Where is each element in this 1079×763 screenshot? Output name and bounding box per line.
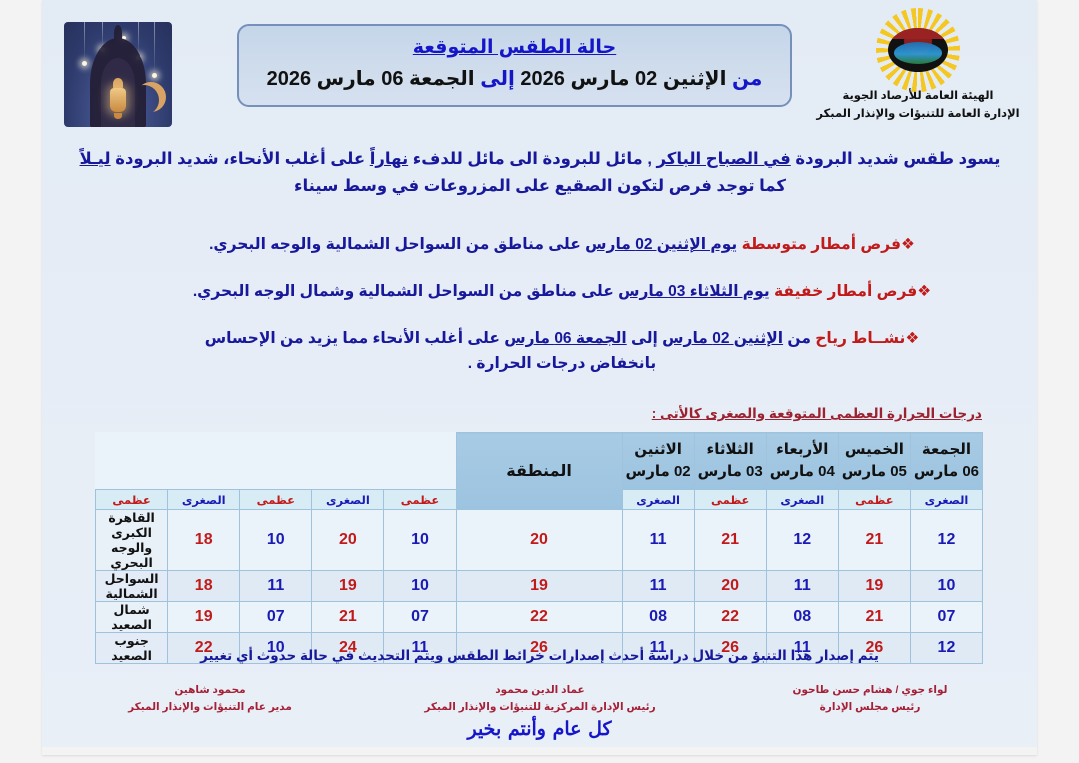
day-header-wednesday: الأربعاء 04 مارس bbox=[766, 433, 838, 490]
table-row: 07 21 08 22 08 22 07 21 07 19 شمال الصعي… bbox=[96, 602, 983, 633]
date-range-from-label: من bbox=[732, 68, 762, 90]
temp-min: 11 bbox=[622, 571, 694, 602]
bullet-2-lead: نشــاط رياح bbox=[815, 330, 905, 347]
subheader-min: الصغرى bbox=[910, 490, 982, 510]
temp-max: 22 bbox=[694, 602, 766, 633]
signature-name: لواء جوي / هشام حسن طاحون bbox=[720, 682, 1020, 699]
subheader-min: الصغرى bbox=[622, 490, 694, 510]
date-range-start: الإثنين 02 مارس 2026 bbox=[520, 68, 726, 90]
ramadan-lantern-image bbox=[64, 22, 172, 127]
temp-min: 12 bbox=[910, 510, 982, 571]
region-column-header: المنطقة bbox=[456, 433, 622, 510]
temp-min: 11 bbox=[766, 571, 838, 602]
temp-max: 21 bbox=[694, 510, 766, 571]
bullet-1-tail: على مناطق من السواحل الشمالية وشمال الوج… bbox=[193, 283, 614, 300]
temp-max: 22 bbox=[456, 602, 622, 633]
date-range-to-label: إلى bbox=[480, 68, 515, 90]
bullet-2-tail-2: بانخفاض درجات الحرارة . bbox=[102, 351, 1022, 376]
list-item: ❖نشــاط رياح من الإثنين 02 مارس إلى الجم… bbox=[102, 326, 1022, 376]
subheader-max: عظمى bbox=[240, 490, 312, 510]
signature-chairman: لواء جوي / هشام حسن طاحون رئيس مجلس الإد… bbox=[720, 682, 1020, 716]
day-header-monday: الاثنين 02 مارس bbox=[622, 433, 694, 490]
forecast-bullet-list: ❖فرص أمطار متوسطة يوم الإثنين 02 مارس عل… bbox=[102, 232, 1022, 398]
temp-max: 20 bbox=[694, 571, 766, 602]
temp-max: 19 bbox=[168, 602, 240, 633]
bullet-2-tail: على أغلب الأنحاء مما يزيد من الإحساس bbox=[205, 330, 500, 347]
forecast-date-range: من الإثنين 02 مارس 2026 إلى الجمعة 06 ما… bbox=[249, 65, 780, 94]
temp-max: 19 bbox=[456, 571, 622, 602]
diamond-bullet-icon: ❖ bbox=[901, 236, 915, 253]
subheader-max: عظمى bbox=[694, 490, 766, 510]
temp-min: 10 bbox=[384, 510, 456, 571]
summary-part-1: يسود طقس شديد البرودة bbox=[795, 150, 1000, 168]
subheader-max: عظمى bbox=[384, 490, 456, 510]
signature-block: لواء جوي / هشام حسن طاحون رئيس مجلس الإد… bbox=[60, 682, 1020, 716]
bullet-0-underline: يوم الإثنين 02 مارس bbox=[585, 236, 737, 253]
summary-underline-2: نهاراً bbox=[370, 150, 408, 168]
temp-min: 07 bbox=[384, 602, 456, 633]
signature-role: رئيس مجلس الإدارة bbox=[720, 699, 1020, 716]
temp-min: 12 bbox=[766, 510, 838, 571]
temp-max: 18 bbox=[168, 510, 240, 571]
list-item: ❖فرص أمطار خفيفة يوم الثلاثاء 03 مارس عل… bbox=[102, 279, 1022, 304]
signature-central-head: عماد الدين محمود رئيس الإدارة المركزية ل… bbox=[390, 682, 690, 716]
diamond-bullet-icon: ❖ bbox=[905, 330, 919, 347]
temp-min: 07 bbox=[910, 602, 982, 633]
page-title: حالة الطقس المتوقعة bbox=[249, 34, 780, 62]
temperature-table: الجمعة 06 مارس الخميس 05 مارس الأربعاء 0… bbox=[95, 432, 983, 664]
lantern-icon bbox=[107, 75, 129, 119]
temp-max: 20 bbox=[312, 510, 384, 571]
day-name: الجمعة bbox=[911, 439, 982, 462]
bullet-2-mid: من bbox=[787, 330, 811, 347]
signature-role: مدير عام التنبؤات والإنذار المبكر bbox=[60, 699, 360, 716]
table-day-header-row: الجمعة 06 مارس الخميس 05 مارس الأربعاء 0… bbox=[96, 433, 983, 490]
day-header-friday: الجمعة 06 مارس bbox=[910, 433, 982, 490]
date-range-end: الجمعة 06 مارس 2026 bbox=[267, 68, 475, 90]
temp-max: 21 bbox=[838, 510, 910, 571]
temperature-table-caption: درجات الحرارة العظمى المتوقعة والصغرى كا… bbox=[652, 406, 982, 422]
bullet-1-underline: يوم الثلاثاء 03 مارس bbox=[618, 283, 770, 300]
temp-min: 11 bbox=[622, 510, 694, 571]
day-date: 06 مارس bbox=[911, 461, 982, 484]
summary-part-3: على أغلب الأنحاء، شديد البرودة bbox=[115, 150, 365, 168]
org-department: الإدارة العامة للتنبؤات والإنذار المبكر bbox=[813, 106, 1023, 124]
day-header-tuesday: الثلاثاء 03 مارس bbox=[694, 433, 766, 490]
signature-role: رئيس الإدارة المركزية للتنبؤات والإنذار … bbox=[390, 699, 690, 716]
temp-min: 07 bbox=[240, 602, 312, 633]
day-date: 04 مارس bbox=[767, 461, 838, 484]
temp-max: 19 bbox=[312, 571, 384, 602]
summary-part-2: , مائل للبرودة الى مائل للدفء bbox=[413, 150, 652, 168]
temp-min: 08 bbox=[766, 602, 838, 633]
temp-min: 10 bbox=[240, 510, 312, 571]
day-name: الثلاثاء bbox=[695, 439, 766, 462]
bullet-1-lead: فرص أمطار خفيفة bbox=[774, 283, 917, 300]
subheader-min: الصغرى bbox=[766, 490, 838, 510]
temp-max: 21 bbox=[838, 602, 910, 633]
day-header-thursday: الخميس 05 مارس bbox=[838, 433, 910, 490]
subheader-max: عظمى bbox=[96, 490, 168, 510]
subheader-max: عظمى bbox=[838, 490, 910, 510]
temperature-table-wrapper: الجمعة 06 مارس الخميس 05 مارس الأربعاء 0… bbox=[95, 432, 983, 664]
forecast-page: حالة الطقس المتوقعة من الإثنين 02 مارس 2… bbox=[42, 0, 1037, 755]
day-name: الاثنين bbox=[623, 439, 694, 462]
temp-min: 08 bbox=[622, 602, 694, 633]
table-row: 12 21 12 21 11 20 10 20 10 18 القاهرة ال… bbox=[96, 510, 983, 571]
greeting-text: كل عام وأنتم بخير bbox=[42, 718, 1037, 740]
subheader-min: الصغرى bbox=[168, 490, 240, 510]
temp-max: 19 bbox=[838, 571, 910, 602]
day-name: الخميس bbox=[839, 439, 910, 462]
signature-general-manager: محمود شاهين مدير عام التنبؤات والإنذار ا… bbox=[60, 682, 360, 716]
day-name: الأربعاء bbox=[767, 439, 838, 462]
bullet-2-underline-2: الجمعة 06 مارس bbox=[504, 330, 626, 347]
list-item: ❖فرص أمطار متوسطة يوم الإثنين 02 مارس عل… bbox=[102, 232, 1022, 257]
day-date: 03 مارس bbox=[695, 461, 766, 484]
signature-name: عماد الدين محمود bbox=[390, 682, 690, 699]
issuance-note: يتم إصدار هذا التنبؤ من خلال دراسة أحدث … bbox=[42, 648, 1037, 664]
forecast-title-box: حالة الطقس المتوقعة من الإثنين 02 مارس 2… bbox=[237, 24, 792, 107]
ema-emblem-icon bbox=[875, 18, 961, 82]
temp-max: 21 bbox=[312, 602, 384, 633]
crescent-moon-icon bbox=[129, 85, 159, 115]
region-name: القاهرة الكبرى والوجه البحري bbox=[96, 510, 168, 571]
temp-min: 10 bbox=[910, 571, 982, 602]
summary-underline-3: ليـلاً bbox=[80, 150, 111, 168]
region-name: السواحل الشمالية bbox=[96, 571, 168, 602]
summary-underline-1: في الصباح الباكر bbox=[657, 150, 791, 168]
region-name: شمال الصعيد bbox=[96, 602, 168, 633]
bullet-2-underline: الإثنين 02 مارس bbox=[662, 330, 783, 347]
table-row: 10 19 11 20 11 19 10 19 11 18 السواحل ال… bbox=[96, 571, 983, 602]
summary-line-2: كما توجد فرص لتكون الصقيع على المزروعات … bbox=[56, 173, 1024, 200]
diamond-bullet-icon: ❖ bbox=[917, 283, 931, 300]
day-date: 05 مارس bbox=[839, 461, 910, 484]
weather-summary: يسود طقس شديد البرودة في الصباح الباكر ,… bbox=[56, 146, 1024, 199]
subheader-min: الصغرى bbox=[312, 490, 384, 510]
organisation-block: الهيئة العامة للأرصاد الجوية الإدارة الع… bbox=[813, 18, 1023, 124]
temp-min: 10 bbox=[384, 571, 456, 602]
bullet-2-mid-2: إلى bbox=[631, 330, 658, 347]
bullet-0-tail: على مناطق من السواحل الشمالية والوجه الب… bbox=[209, 236, 581, 253]
temp-max: 18 bbox=[168, 571, 240, 602]
bullet-0-lead: فرص أمطار متوسطة bbox=[742, 236, 901, 253]
temp-min: 11 bbox=[240, 571, 312, 602]
signature-name: محمود شاهين bbox=[60, 682, 360, 699]
day-date: 02 مارس bbox=[623, 461, 694, 484]
temp-max: 20 bbox=[456, 510, 622, 571]
